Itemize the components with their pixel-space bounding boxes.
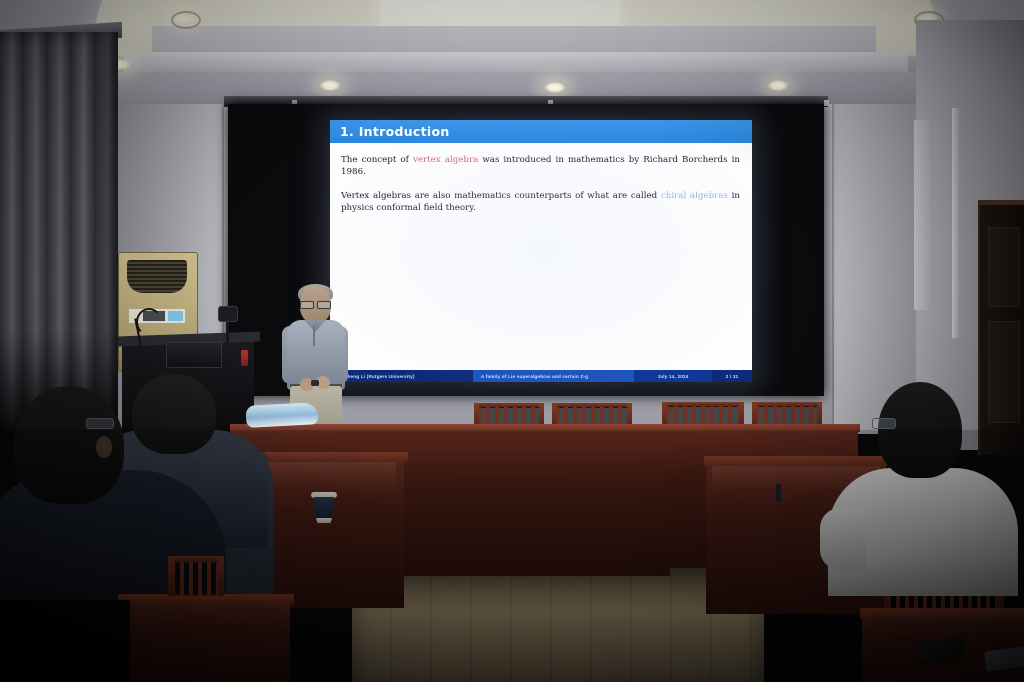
desk-row-back-center bbox=[400, 428, 670, 576]
lecture-hall-photo: 1. Introduction The concept of vertex al… bbox=[0, 0, 1024, 682]
door-panel bbox=[988, 227, 1020, 307]
audience-arm-right bbox=[820, 508, 866, 570]
blue-bag bbox=[245, 402, 318, 428]
pen-on-desk bbox=[776, 484, 781, 502]
slide-footer-date: July 14, 2024 bbox=[634, 370, 712, 382]
podium-laptop[interactable] bbox=[166, 342, 222, 368]
chair-post bbox=[168, 556, 174, 596]
foreground-left-shadow bbox=[0, 600, 130, 682]
wall-duct bbox=[914, 120, 930, 310]
downlight-icon bbox=[766, 79, 790, 92]
wall-seam bbox=[832, 104, 834, 434]
microphone-icon bbox=[136, 308, 162, 336]
screen-clip-icon bbox=[824, 100, 829, 106]
glasses-lens-right bbox=[317, 301, 331, 309]
ac-grill-icon bbox=[127, 260, 187, 293]
audience-ear-front-left bbox=[96, 436, 112, 458]
slide-footer-talk-title: A family of Lie superalgebras and certai… bbox=[473, 370, 634, 382]
slide-paragraph-2: Vertex algebras are also mathematics cou… bbox=[341, 190, 740, 215]
desk-top bbox=[666, 424, 860, 432]
ac-badge bbox=[168, 311, 183, 321]
audience-glasses-front-left bbox=[86, 418, 114, 429]
chair-post bbox=[218, 556, 224, 596]
cup-base bbox=[316, 518, 332, 523]
slide-footer-page-number: 2 / 31 bbox=[712, 370, 752, 382]
slide-p2-highlight: chiral algebras bbox=[661, 191, 728, 201]
audience-head-mid-left bbox=[132, 374, 216, 454]
wall-pipe bbox=[952, 108, 959, 338]
chair-slats bbox=[171, 562, 221, 596]
red-bottle bbox=[241, 350, 248, 366]
door[interactable] bbox=[978, 200, 1024, 455]
glasses-lens-left bbox=[300, 301, 314, 309]
slide-p1-pre: The concept of bbox=[341, 155, 413, 165]
presentation-slide: 1. Introduction The concept of vertex al… bbox=[330, 120, 752, 382]
ceiling bbox=[0, 0, 1024, 108]
ceiling-light-panel-inner bbox=[380, 0, 620, 26]
desk-row-front-left bbox=[120, 600, 290, 682]
downlight-ring-icon bbox=[171, 11, 201, 29]
glasses-icon bbox=[300, 301, 331, 307]
slide-footer: Haisheng Li (Rutgers University) A famil… bbox=[330, 370, 752, 382]
audience-head-right bbox=[878, 382, 962, 478]
chair[interactable] bbox=[168, 556, 224, 596]
cup-body bbox=[314, 497, 334, 519]
desk-top bbox=[398, 424, 672, 432]
downlight-icon bbox=[543, 81, 567, 94]
presenter-placket bbox=[313, 326, 315, 346]
presenter-clicker[interactable] bbox=[311, 380, 319, 386]
desk-top bbox=[704, 456, 890, 466]
slide-paragraph-1: The concept of vertex algebra was introd… bbox=[341, 154, 740, 179]
coffee-cup bbox=[313, 492, 335, 526]
desk-top bbox=[860, 608, 1024, 618]
downlight-icon bbox=[318, 79, 342, 92]
door-panel bbox=[988, 321, 1020, 423]
slide-title: 1. Introduction bbox=[330, 120, 752, 143]
floor-shading bbox=[352, 566, 764, 682]
slide-body: The concept of vertex algebra was introd… bbox=[330, 143, 752, 214]
camera-icon bbox=[218, 306, 238, 322]
glasses-icon bbox=[872, 418, 896, 429]
slide-p1-highlight: vertex algebra bbox=[413, 155, 478, 165]
slide-p2-pre: Vertex algebras are also mathematics cou… bbox=[341, 191, 661, 201]
